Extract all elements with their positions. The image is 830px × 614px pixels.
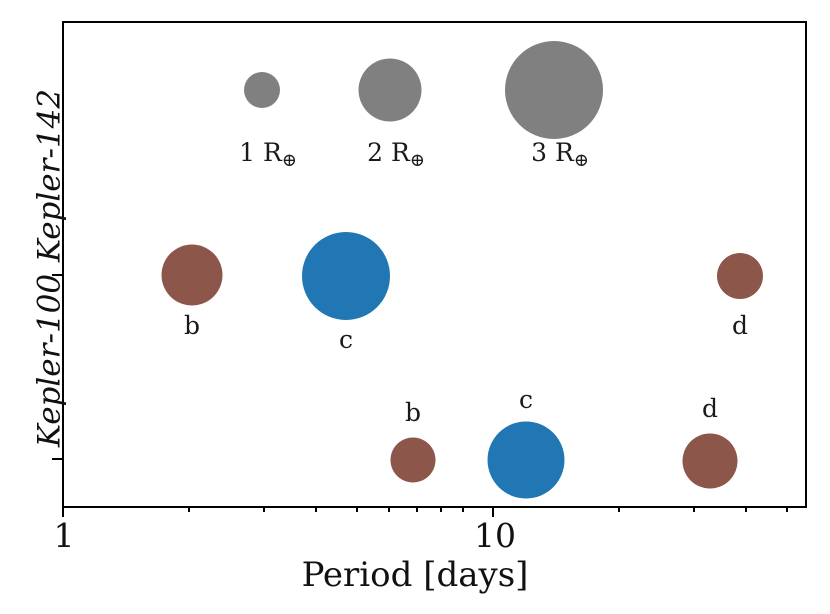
ytick-label-kepler100: Kepler-100	[35, 246, 66, 476]
data-label-kepler142-c: c	[519, 387, 533, 412]
legend-label-2re-unit: R	[391, 138, 410, 167]
legend-label-1re-unit: R	[263, 138, 282, 167]
xtick-minor	[786, 506, 788, 512]
figure-root: 1 R⊕ 2 R⊕ 3 R⊕ b c d b c d 1 10 Kepler-1…	[0, 0, 830, 614]
data-point-kepler142-d[interactable]	[683, 434, 738, 489]
xtick-label-1: 1	[54, 519, 75, 552]
xtick-minor	[263, 506, 265, 512]
legend-bubble-3re	[505, 41, 603, 139]
xtick-minor	[356, 506, 358, 512]
legend-label-2re: 2 R⊕	[367, 140, 425, 170]
xtick-label-10: 10	[474, 519, 516, 552]
data-label-kepler142-d: d	[702, 396, 718, 421]
legend-label-3re-unit: R	[555, 138, 574, 167]
xtick-minor	[745, 506, 747, 512]
legend-label-3re-number: 3	[531, 138, 547, 167]
legend-label-2re-number: 2	[367, 138, 383, 167]
data-point-kepler100-b[interactable]	[162, 245, 223, 306]
xaxis-title: Period [days]	[0, 558, 830, 592]
xtick-minor	[416, 506, 418, 512]
xtick-minor	[618, 506, 620, 512]
data-point-kepler142-c[interactable]	[488, 422, 565, 499]
legend-bubble-2re	[359, 59, 422, 122]
xtick-minor	[440, 506, 442, 512]
xtick-minor	[462, 506, 464, 512]
data-point-kepler142-b[interactable]	[391, 438, 436, 483]
legend-label-2re-sub: ⊕	[410, 150, 425, 171]
xtick-minor	[188, 506, 190, 512]
xtick-minor	[315, 506, 317, 512]
xtick-minor	[693, 506, 695, 512]
legend-label-1re-number: 1	[239, 138, 255, 167]
legend-label-1re-sub: ⊕	[282, 150, 297, 171]
data-point-kepler100-d[interactable]	[717, 253, 763, 299]
legend-label-3re-sub: ⊕	[574, 150, 589, 171]
data-label-kepler142-b: b	[405, 400, 421, 425]
data-label-kepler100-b: b	[184, 313, 200, 338]
xtick-minor	[388, 506, 390, 512]
data-point-kepler100-c[interactable]	[302, 232, 390, 320]
data-label-kepler100-d: d	[732, 313, 748, 338]
legend-label-3re: 3 R⊕	[531, 140, 589, 170]
legend-label-1re: 1 R⊕	[239, 140, 297, 170]
legend-bubble-1re	[244, 72, 280, 108]
data-label-kepler100-c: c	[339, 327, 353, 352]
